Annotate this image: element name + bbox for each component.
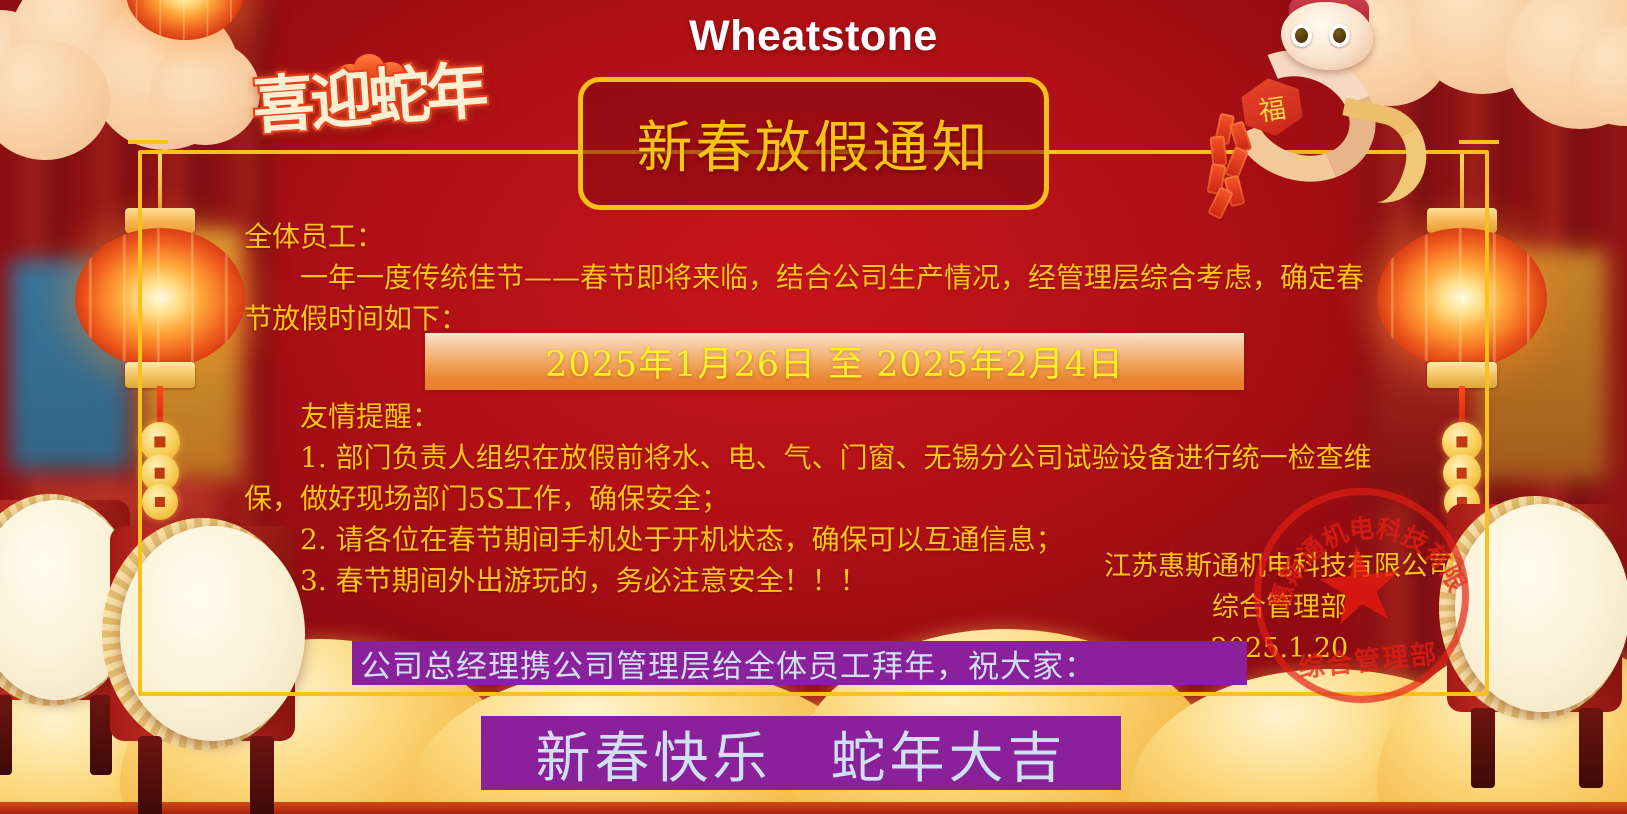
firecrackers-icon [1203,114,1275,210]
page-title: 新春放假通知 [637,103,991,184]
reminder-heading: 友情提醒： [244,396,1379,437]
holiday-date-banner: 2025年1月26日 至 2025年2月4日 [425,333,1244,390]
greeting-banner: 公司总经理携公司管理层给全体员工拜年，祝大家： [352,641,1247,685]
salutation-line: 全体员工： [244,216,1379,257]
company-seal-stamp: 江苏惠斯通机电科技有限公司 综合管理部 [1243,477,1479,713]
notice-title-box: 新春放假通知 [578,77,1049,210]
intro-paragraph: 一年一度传统佳节——春节即将来临，结合公司生产情况，经管理层综合考虑，确定春节放… [244,257,1379,339]
calligraphy-welcome-snake-year: 喜迎蛇年 [249,40,487,146]
holiday-date-range: 2025年1月26日 至 2025年2月4日 [545,336,1124,387]
greeting-banner-text: 公司总经理携公司管理层给全体员工拜年，祝大家： [360,641,1096,686]
snake-mascot-illustration: 福 [1185,0,1435,211]
reminder-item-1: 1. 部门负责人组织在放假前将水、电、气、门窗、无锡分公司试验设备进行统一检查维… [244,437,1379,519]
wish-banner: 新春快乐 蛇年大吉 [481,716,1121,790]
new-year-holiday-notice-poster: Wheatstone 新春放假通知 喜迎蛇年 福 全体员工： 一年一度传统佳节—… [0,0,1627,814]
notice-body: 全体员工： 一年一度传统佳节——春节即将来临，结合公司生产情况，经管理层综合考虑… [244,216,1379,339]
wish-banner-text: 新春快乐 蛇年大吉 [535,713,1066,793]
